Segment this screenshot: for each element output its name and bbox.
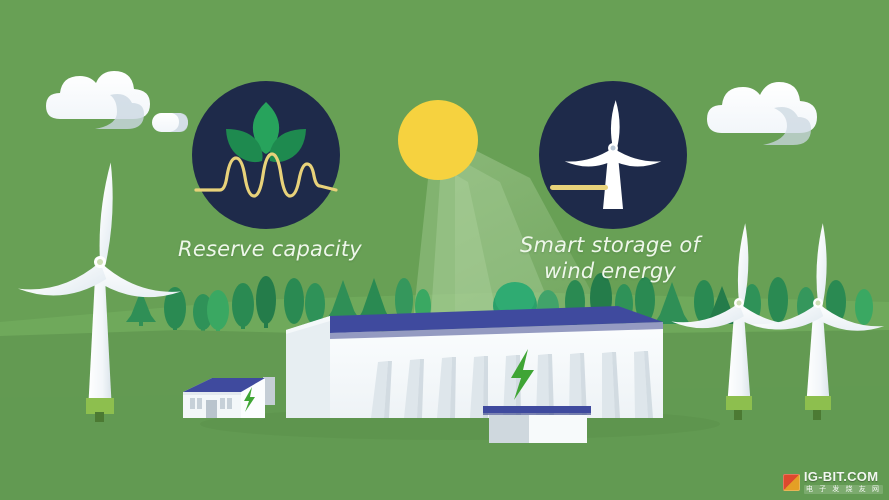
label-reserve-capacity: Reserve capacity: [150, 236, 390, 262]
watermark-site: IG-BIT.COM: [804, 470, 883, 483]
watermark-subtitle: 电 子 发 烧 友 网: [804, 485, 883, 494]
scene-svg: [0, 0, 889, 500]
watermark: IG-BIT.COM 电 子 发 烧 友 网: [783, 470, 883, 494]
wind-turbine-icon: [539, 81, 687, 229]
cloud-small-icon: [152, 113, 188, 132]
battery-storage-warehouse: [263, 306, 663, 418]
label-smart-storage: Smart storage of wind energy: [490, 232, 730, 284]
watermark-text: IG-BIT.COM 电 子 发 烧 友 网: [804, 470, 883, 494]
watermark-logo-icon: [783, 474, 800, 491]
sun-icon: [398, 100, 478, 180]
leaf-waveform-icon: [192, 81, 340, 229]
illustration-canvas: Reserve capacity Smart storage of wind e…: [0, 0, 889, 500]
substation-platform: [483, 406, 591, 443]
